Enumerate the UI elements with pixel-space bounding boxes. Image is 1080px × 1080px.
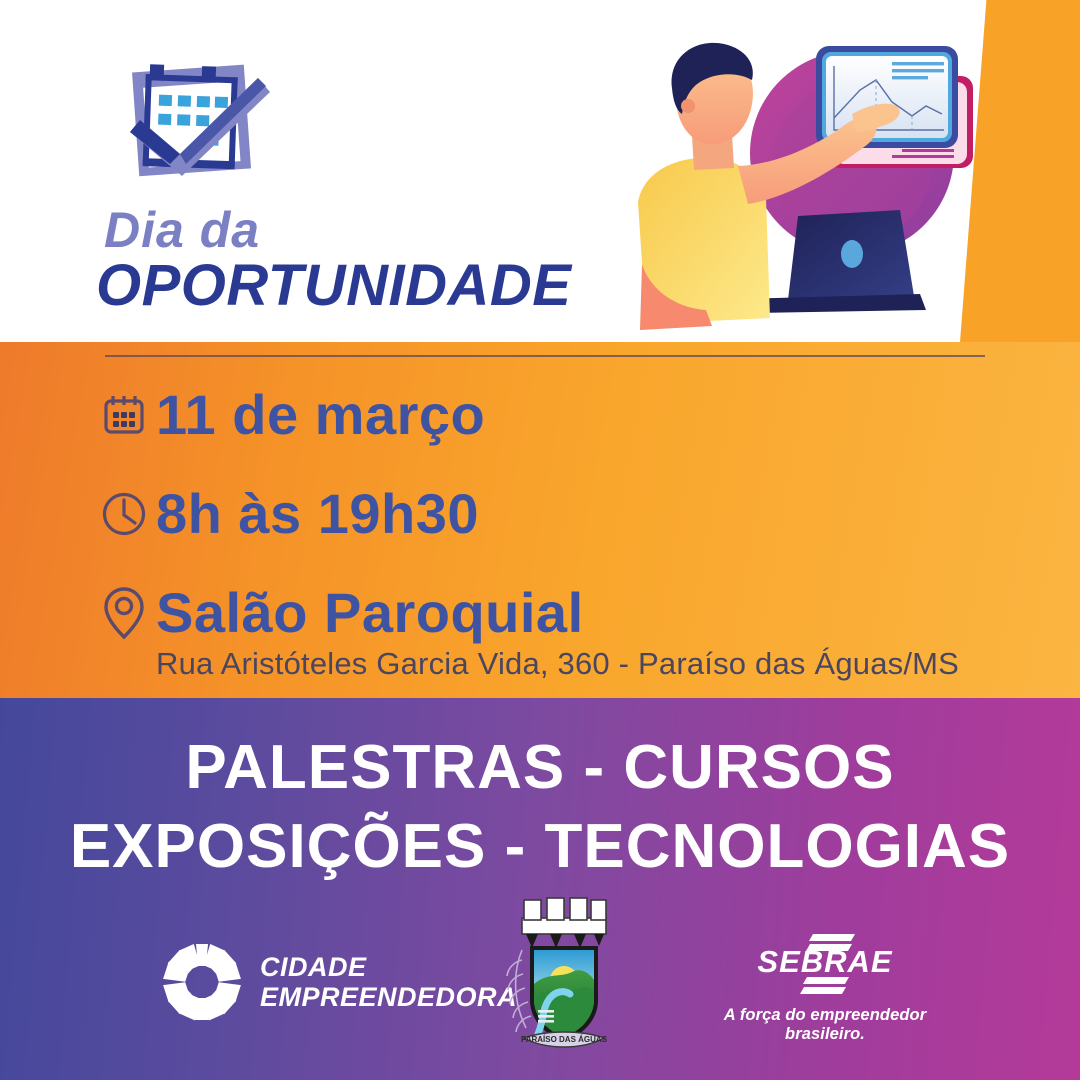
logo-cidade-empreendedora: CIDADE EMPREENDEDORA: [160, 940, 517, 1024]
sebrae-bars-icon: SEBRAE: [729, 932, 921, 994]
ce-line-2: EMPREENDEDORA: [260, 982, 517, 1012]
coa-municipality-name: PARAÍSO DAS ÁGUAS: [521, 1035, 608, 1044]
title-line-1: Dia da: [104, 205, 571, 255]
calendar-icon: [92, 392, 156, 438]
sponsor-logos: CIDADE EMPREENDEDORA: [0, 888, 1080, 1058]
sebrae-tagline: A força do empreendedor brasileiro.: [700, 1006, 950, 1044]
man-presenting-chart-tablet-illustration: [620, 18, 1040, 348]
detail-row-venue: Salão Paroquial: [92, 576, 992, 650]
detail-row-time: 8h às 19h30: [92, 466, 992, 562]
event-poster: Dia da OPORTUNIDADE: [0, 0, 1080, 1080]
poster-title: Dia da OPORTUNIDADE: [96, 205, 571, 315]
horizontal-divider: [105, 355, 985, 357]
banner-line-2: EXPOSIÇÕES - TECNOLOGIAS: [0, 807, 1080, 886]
logo-sebrae: SEBRAE A força do empreendedor brasileir…: [700, 932, 950, 1044]
map-pin-icon: [92, 585, 156, 641]
venue-name: Salão Paroquial: [156, 584, 584, 643]
event-details: 11 de março 8h às 19h30 Salão Paroquial …: [92, 372, 992, 682]
event-date: 11 de março: [156, 386, 485, 445]
title-line-2: OPORTUNIDADE: [96, 257, 571, 315]
activities-banner: PALESTRAS - CURSOS EXPOSIÇÕES - TECNOLOG…: [0, 728, 1080, 887]
detail-row-date: 11 de março: [92, 372, 992, 458]
sebrae-wordmark: SEBRAE: [757, 944, 893, 979]
ce-line-1: CIDADE: [260, 952, 517, 982]
event-time: 8h às 19h30: [156, 485, 479, 544]
clock-icon: [92, 489, 156, 539]
calendar-check-icon: [118, 52, 278, 202]
venue-address: Rua Aristóteles Garcia Vida, 360 - Paraí…: [156, 646, 992, 682]
coat-of-arms-icon: PARAÍSO DAS ÁGUAS: [498, 888, 630, 1056]
cidade-empreendedora-text: CIDADE EMPREENDEDORA: [260, 952, 517, 1012]
banner-line-1: PALESTRAS - CURSOS: [0, 728, 1080, 807]
starburst-icon: [160, 940, 244, 1024]
